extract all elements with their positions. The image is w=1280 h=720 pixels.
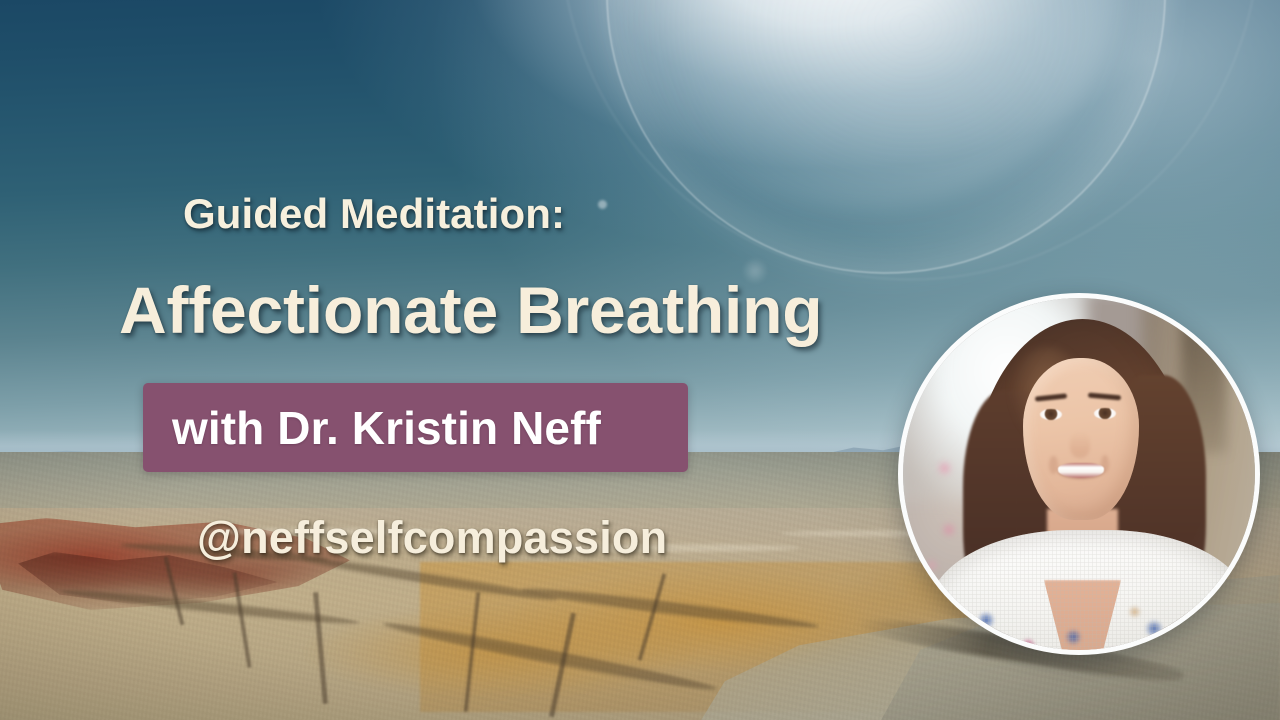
presenter-avatar [898, 293, 1260, 655]
presenter-name-label: with Dr. Kristin Neff [172, 401, 601, 455]
lens-flare-dot-small-icon [598, 200, 607, 209]
lens-flare-arc-secondary-icon [560, 0, 1260, 280]
kicker-text: Guided Meditation: [183, 190, 565, 238]
social-handle-text: @neffselfcompassion [197, 512, 667, 564]
title-card-slide: Guided Meditation: Affectionate Breathin… [0, 0, 1280, 720]
page-title: Affectionate Breathing [119, 272, 822, 348]
avatar-soft-vignette [903, 298, 1255, 650]
presenter-name-banner: with Dr. Kristin Neff [143, 383, 688, 472]
